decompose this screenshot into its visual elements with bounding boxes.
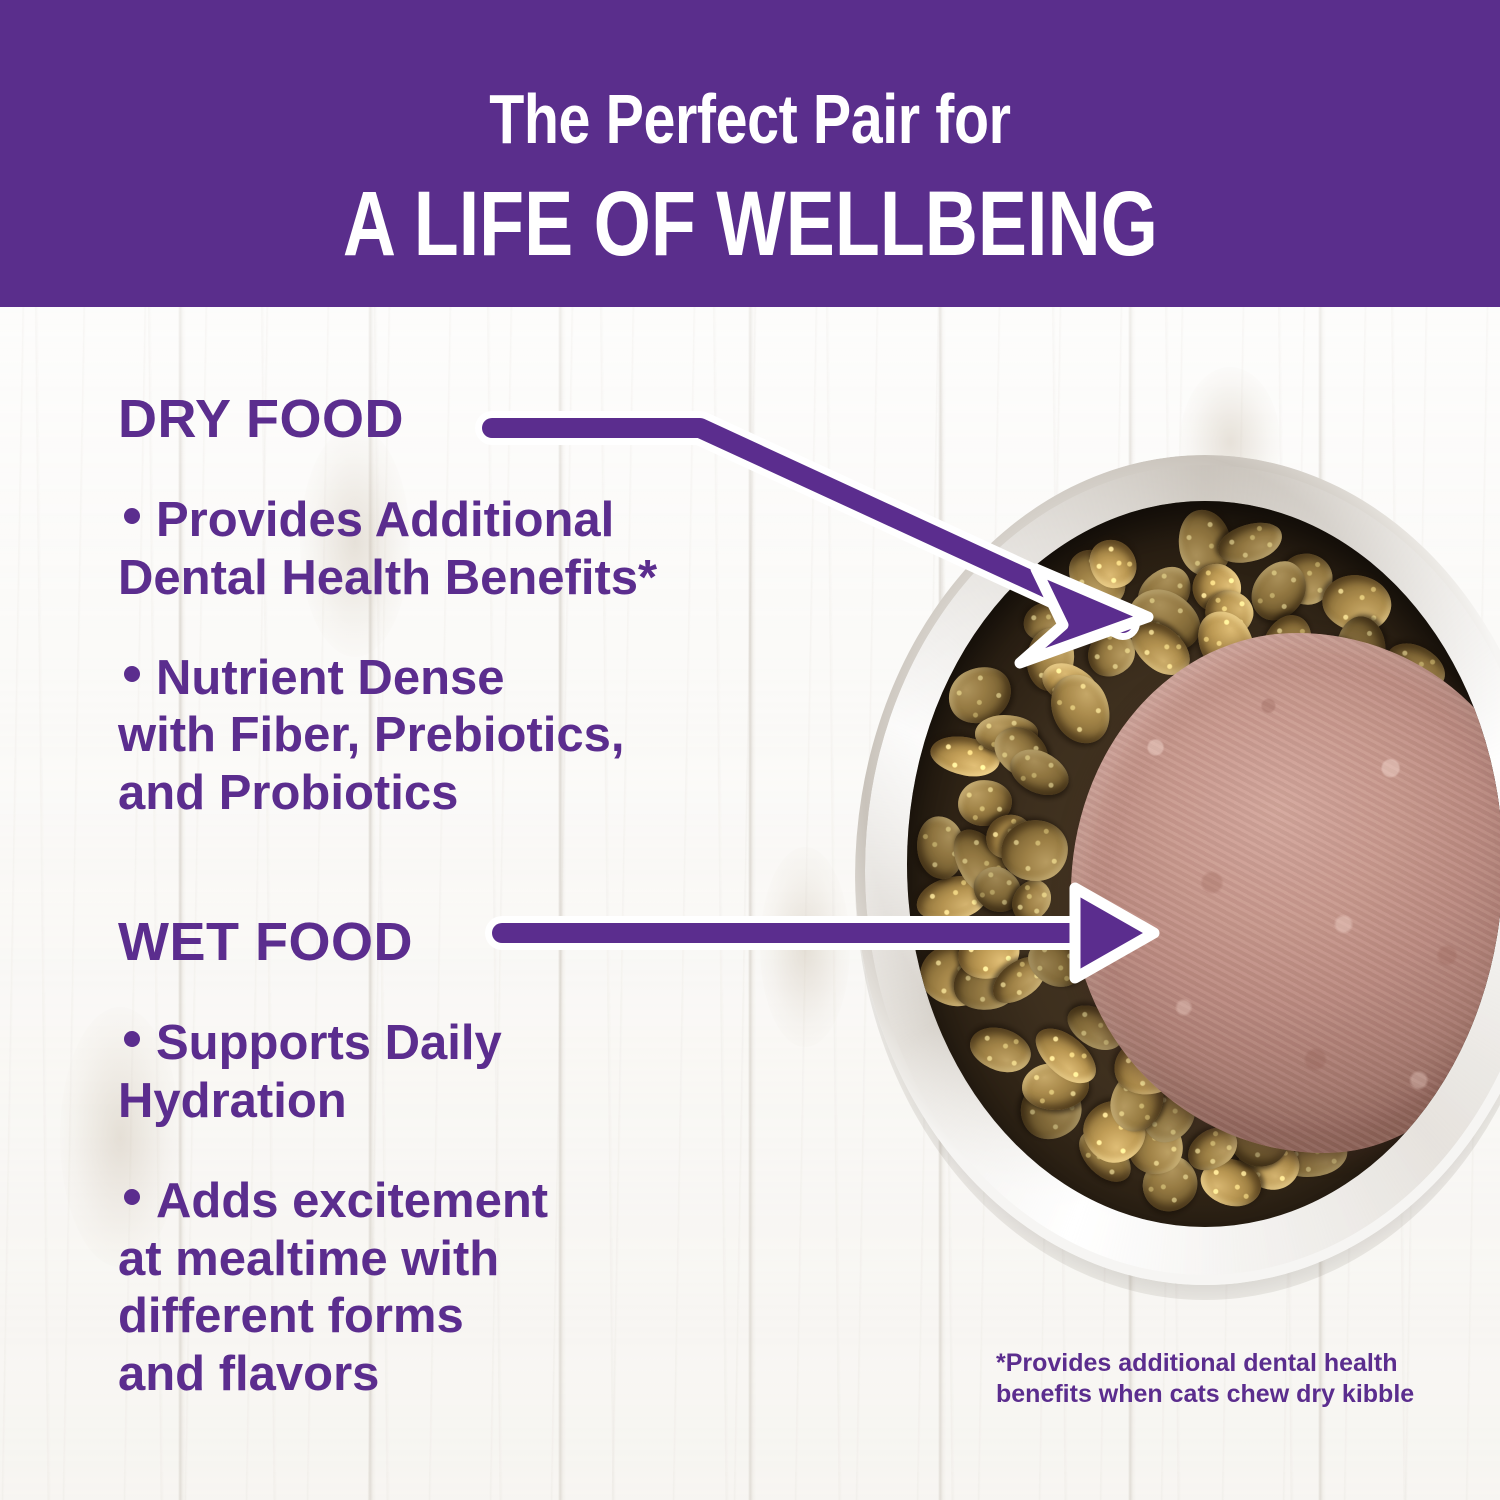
footnote-line-2: benefits when cats chew dry kibble <box>996 1379 1436 1410</box>
header-banner: The Perfect Pair for A LIFE OF WELLBEING <box>0 0 1500 307</box>
section-heading-wet-food: WET FOOD <box>118 915 818 969</box>
cat-food-bowl-photo <box>855 455 1500 1300</box>
bullet-dry-nutrient-line2: with Fiber, Prebiotics, <box>118 708 624 762</box>
bullet-dry-nutrient-dense: Nutrient Densewith Fiber, Prebiotics,and… <box>118 650 778 823</box>
header-title-line-1: The Perfect Pair for <box>489 84 1010 154</box>
bullet-dry-nutrient-line1: Nutrient Dense <box>156 651 505 705</box>
header-title-line-2: A LIFE OF WELLBEING <box>343 178 1158 270</box>
bullet-dry-nutrient-line3: and Probiotics <box>118 766 458 820</box>
infographic-canvas: The Perfect Pair for A LIFE OF WELLBEING <box>0 0 1500 1500</box>
bullet-dot-icon <box>124 666 140 682</box>
bullet-dot-icon <box>124 508 140 524</box>
benefits-copy-column: DRY FOOD Provides AdditionalDental Healt… <box>118 392 818 1404</box>
bullet-wet-hydration-line1: Supports Daily <box>156 1016 502 1070</box>
section-heading-dry-food: DRY FOOD <box>118 392 818 446</box>
bullet-wet-excitement-line4: and flavors <box>118 1347 379 1401</box>
bullet-dot-icon <box>124 1189 140 1205</box>
kibble-piece <box>964 1021 1036 1080</box>
bowl-interior <box>907 501 1500 1227</box>
bowl-clip <box>855 455 1500 1300</box>
footnote-disclaimer: *Provides additional dental health benef… <box>996 1348 1436 1410</box>
footnote-line-1: *Provides additional dental health <box>996 1348 1436 1379</box>
bullet-wet-excitement-line2: at mealtime with <box>118 1232 499 1286</box>
bullet-dry-dental-line1: Provides Additional <box>156 493 614 547</box>
bullet-dry-dental: Provides AdditionalDental Health Benefit… <box>118 492 778 608</box>
bullet-wet-excitement-line3: different forms <box>118 1289 464 1343</box>
bullet-wet-excitement-line1: Adds excitement <box>156 1174 548 1228</box>
bullet-dot-icon <box>124 1031 140 1047</box>
bullet-wet-hydration: Supports DailyHydration <box>118 1015 778 1131</box>
bullet-wet-excitement: Adds excitementat mealtime withdifferent… <box>118 1173 778 1404</box>
bullet-dry-dental-line2: Dental Health Benefits* <box>118 551 657 605</box>
bullet-wet-hydration-line2: Hydration <box>118 1074 347 1128</box>
